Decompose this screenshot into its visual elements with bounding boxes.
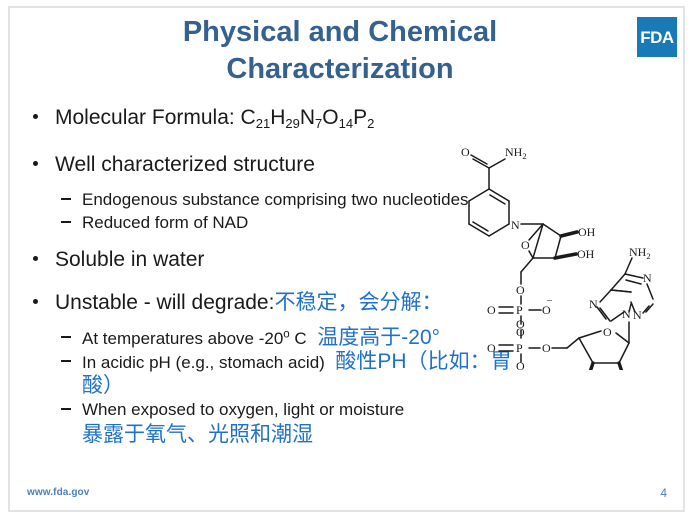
label-o-carbonyl: O — [461, 145, 470, 159]
label-oh-2: OH — [577, 247, 595, 261]
bullet-soluble-text: Soluble in water — [55, 248, 204, 271]
title-line-1: Physical and Chemical — [60, 14, 620, 51]
title-line-2: Characterization — [60, 51, 620, 88]
sub-bullet-temperature-text: At temperatures above -20o C — [82, 329, 307, 348]
label-minus-1: – — [546, 295, 553, 306]
label-nh2-nicotinamide: NH2 — [505, 145, 527, 161]
label-oh-1: OH — [578, 225, 596, 239]
fda-logo: FDA — [637, 17, 677, 57]
bullet-dot-icon — [33, 256, 38, 261]
dash-icon — [61, 221, 71, 223]
label-n-9: N — [622, 307, 631, 321]
label-o-bridge: O — [516, 325, 525, 339]
label-o-p2-bottom: O — [516, 359, 525, 370]
label-o-p2-double: O — [487, 341, 496, 355]
sub-bullet-endogenous-text: Endogenous substance comprising two nucl… — [82, 190, 469, 209]
footer-page-number: 4 — [660, 486, 667, 500]
slide-canvas: Physical and Chemical Characterization F… — [0, 0, 693, 520]
sub-bullet-reduced-nad-text: Reduced form of NAD — [82, 213, 248, 232]
dash-icon — [61, 336, 71, 338]
bullet-unstable-text-cn: 不稳定，会分解： — [274, 291, 442, 314]
sub-bullet-oxygen-light-text: When exposed to oxygen, light or moistur… — [82, 400, 404, 419]
fda-logo-text: FDA — [640, 29, 673, 46]
bullet-molecular-formula-text: Molecular Formula: C21H29N7O14P2 — [55, 106, 374, 129]
page-title: Physical and Chemical Characterization — [60, 14, 620, 88]
label-o-ester-1: O — [516, 283, 525, 297]
bullet-unstable-text: Unstable - will degrade: — [55, 291, 274, 314]
label-p-2: P — [516, 341, 523, 355]
sub-bullet-oxygen-light: When exposed to oxygen, light or moistur… — [20, 398, 520, 421]
dash-icon — [61, 198, 71, 200]
label-n-pyridine: N — [511, 218, 520, 232]
label-p-1: P — [516, 303, 523, 317]
sub-bullet-temperature-text-cn: 温度高于-20° — [311, 326, 440, 349]
bullet-dot-icon — [33, 299, 38, 304]
label-n-7: N — [589, 297, 598, 311]
label-o-ribose-adenosine: O — [603, 325, 612, 339]
label-o-p2-right: O — [542, 341, 551, 355]
sub-bullet-acidic-ph-text: In acidic pH (e.g., stomach acid) — [82, 353, 325, 372]
label-n-1: N — [643, 271, 652, 285]
label-o-p1-double: O — [487, 303, 496, 317]
sub-bullet-oxygen-light-text-cn: 暴露于氧气、光照和潮湿 — [20, 421, 520, 449]
footer-url[interactable]: www.fda.gov — [27, 487, 89, 498]
bullet-molecular-formula: Molecular Formula: C21H29N7O14P2 — [20, 104, 520, 133]
bullet-well-characterized-text: Well characterized structure — [55, 153, 315, 176]
label-n-3: N — [633, 308, 642, 322]
dash-icon — [61, 360, 71, 362]
label-nh2-adenine: NH2 — [629, 245, 651, 261]
bullet-dot-icon — [33, 161, 38, 166]
label-o-ribose-nicotinamide: O — [521, 238, 530, 252]
bullet-dot-icon — [33, 114, 38, 119]
dash-icon — [61, 408, 71, 410]
nadh-chemical-structure: NH2 O N O OH OH O P O O – O O — [443, 132, 689, 370]
